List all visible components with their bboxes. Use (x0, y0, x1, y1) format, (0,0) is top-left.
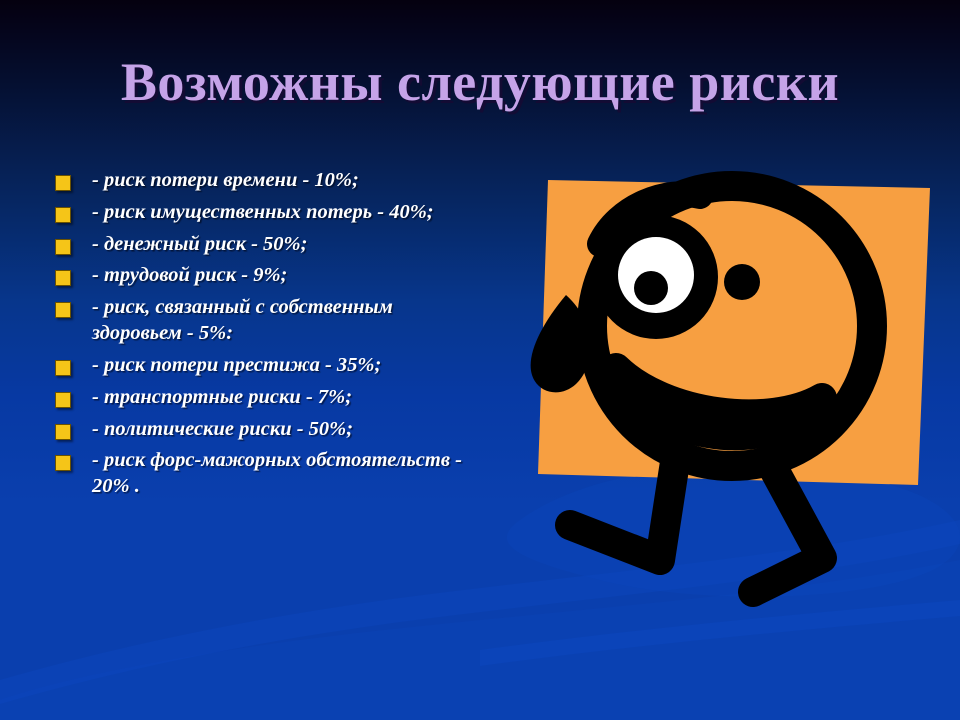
list-item-label: - риск имущественных потерь - 40%; (92, 200, 485, 226)
list-item: - риск потери времени - 10%; (55, 168, 485, 194)
square-bullet-icon (55, 270, 71, 286)
list-item-label: - трудовой риск - 9%; (92, 263, 485, 289)
square-bullet-icon (55, 392, 71, 408)
square-bullet-icon (55, 175, 71, 191)
right-eye-icon (724, 264, 760, 300)
list-item: - трудовой риск - 9%; (55, 263, 485, 289)
list-item-label: - риск форс-мажорных обстоятельств - 20%… (92, 448, 485, 500)
list-item-label: - политические риски - 50%; (92, 417, 485, 443)
list-item: - транспортные риски - 7%; (55, 385, 485, 411)
list-item-label: - риск, связанный с собственным здоровье… (92, 295, 485, 347)
presentation-slide: Возможны следующие риски - риск потери в… (0, 0, 960, 720)
square-bullet-icon (55, 302, 71, 318)
page-title: Возможны следующие риски (0, 54, 960, 111)
square-bullet-icon (55, 207, 71, 223)
square-bullet-icon (55, 360, 71, 376)
list-item-label: - денежный риск - 50%; (92, 232, 485, 258)
list-item-label: - риск потери времени - 10%; (92, 168, 485, 194)
list-item: - политические риски - 50%; (55, 417, 485, 443)
list-item: - риск форс-мажорных обстоятельств - 20%… (55, 448, 485, 500)
list-item: - риск, связанный с собственным здоровье… (55, 295, 485, 347)
list-item-label: - транспортные риски - 7%; (92, 385, 485, 411)
square-bullet-icon (55, 239, 71, 255)
list-item: - риск потери престижа - 35%; (55, 353, 485, 379)
risk-bullet-list: - риск потери времени - 10%; - риск имущ… (55, 168, 485, 506)
left-eye-pupil-icon (634, 271, 668, 305)
list-item: - денежный риск - 50%; (55, 232, 485, 258)
list-item-label: - риск потери престижа - 35%; (92, 353, 485, 379)
worried-character-illustration (470, 140, 960, 620)
list-item: - риск имущественных потерь - 40%; (55, 200, 485, 226)
square-bullet-icon (55, 455, 71, 471)
left-leg-icon (570, 462, 675, 560)
square-bullet-icon (55, 424, 71, 440)
